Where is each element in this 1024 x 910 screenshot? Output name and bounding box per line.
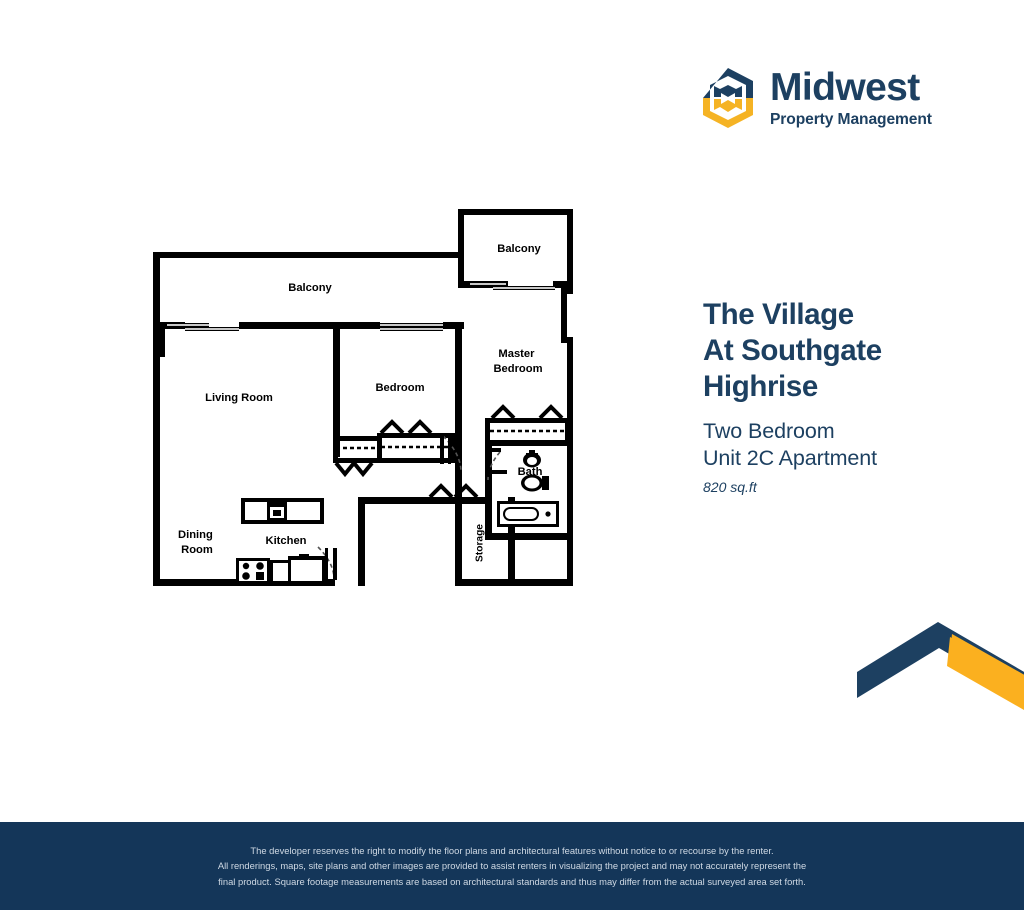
closet-hall-linen [425, 486, 483, 502]
brand-tagline: Property Management [770, 112, 932, 128]
kitchen-island-sink-icon [241, 498, 324, 524]
label-bath: Bath [518, 466, 543, 478]
label-living-room: Living Room [205, 392, 273, 404]
unit-info-panel: The Village At Southgate Highrise Two Be… [703, 297, 1003, 495]
footer-disclaimer-text: The developer reserves the right to modi… [192, 843, 832, 890]
label-balcony-master: Balcony [497, 243, 541, 255]
property-title: The Village At Southgate Highrise [703, 297, 1003, 405]
footer-disclaimer-band: The developer reserves the right to modi… [0, 822, 1024, 910]
unit-type-label: Two Bedroom Unit 2C Apartment [703, 418, 1003, 472]
unit-area-label: 820 sq.ft [703, 479, 1003, 495]
brand-logo: Midwest Property Management [700, 66, 932, 130]
brand-wordmark: Midwest Property Management [770, 68, 932, 128]
floorplan-flyer-page: Balcony Balcony Living Room Bedroom Mast… [0, 0, 1024, 910]
brand-name: Midwest [770, 68, 932, 107]
kitchen-range-counter-icon [236, 554, 326, 584]
swing-doors [318, 436, 500, 579]
bathroom-sink-icon [523, 450, 541, 468]
chevron-accent-icon [855, 610, 1024, 710]
label-storage: Storage [475, 524, 486, 562]
label-bedroom: Bedroom [375, 382, 424, 394]
closet-bedroom [333, 422, 455, 474]
bathtub-icon [497, 501, 559, 527]
closet-master [485, 407, 570, 445]
midwest-hexagon-mw-monogram-icon [700, 66, 756, 130]
label-kitchen: Kitchen [265, 535, 306, 547]
label-balcony-main: Balcony [288, 282, 332, 294]
label-dining-room: Dining Room [178, 529, 216, 556]
label-master-bedroom: Master Bedroom [493, 348, 542, 375]
